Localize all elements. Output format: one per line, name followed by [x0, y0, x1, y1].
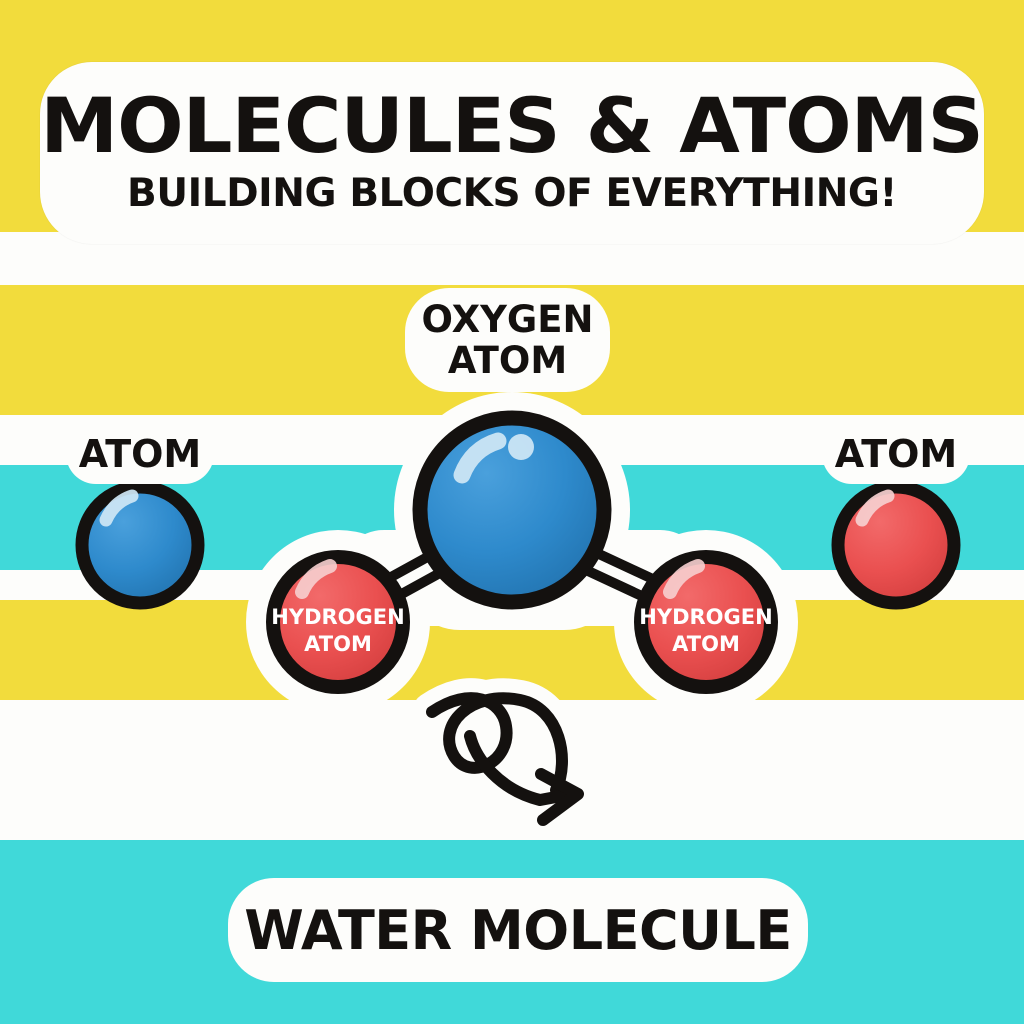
infographic-poster: HYDROGEN ATOM HYDROGEN ATOM MOLECULES & … [0, 0, 1024, 1024]
label-atom-right: ATOM [822, 424, 970, 484]
label-oxygen-line2: ATOM [448, 340, 567, 381]
label-atom-left: ATOM [66, 424, 214, 484]
label-oxygen-atom: OXYGEN ATOM [405, 288, 610, 392]
curly-arrow-layer [0, 0, 1024, 1024]
label-oxygen-line1: OXYGEN [421, 299, 593, 340]
label-water-molecule: WATER MOLECULE [228, 878, 808, 982]
